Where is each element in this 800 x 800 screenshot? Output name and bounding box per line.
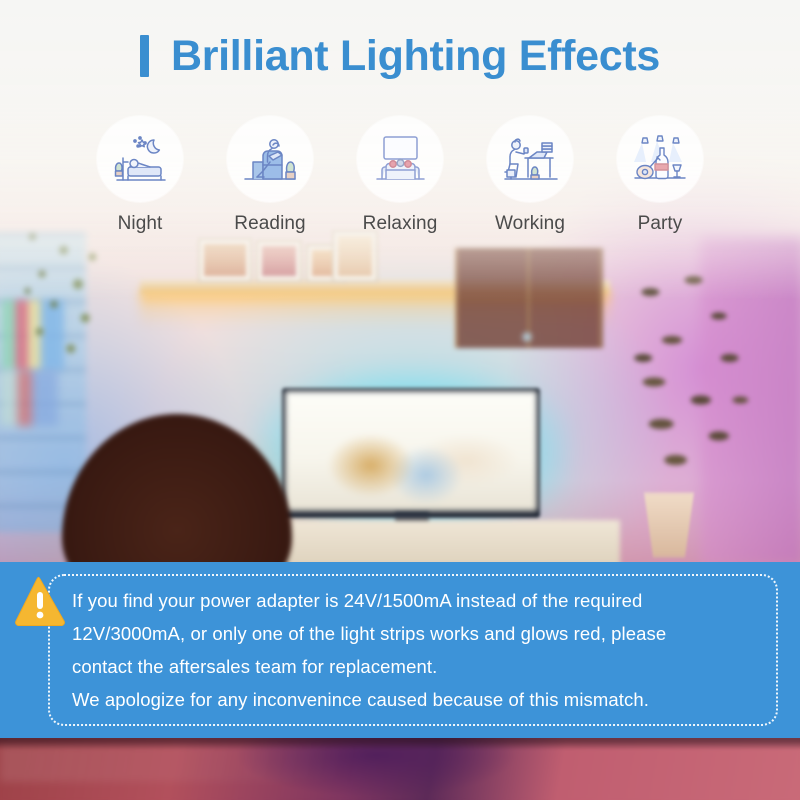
warning-line-1: If you find your power adapter is 24V/15…	[72, 584, 758, 617]
tv-sofa-icon	[369, 132, 431, 186]
shelf-accent-light	[520, 330, 534, 344]
scene-icon-circle	[617, 116, 703, 202]
warning-line-2: 12V/3000mA, or only one of the light str…	[72, 617, 758, 650]
scene-item-relaxing[interactable]: Relaxing	[357, 116, 443, 235]
wine-bottle-guitar-spotlight-icon	[629, 132, 691, 186]
scene-item-party[interactable]: Party	[617, 116, 703, 235]
warning-line-4: We apologize for any inconvenince caused…	[72, 683, 758, 716]
scene-label: Reading	[234, 213, 305, 235]
warning-line-3: contact the aftersales team for replacem…	[72, 650, 758, 683]
tv-screen-content	[285, 391, 537, 511]
bed-moon-stars-icon	[109, 132, 171, 186]
title-row: Brilliant Lighting Effects	[140, 32, 660, 81]
warning-banner: If you find your power adapter is 24V/15…	[0, 562, 800, 738]
person-reading-armchair-icon	[239, 132, 301, 186]
header: Brilliant Lighting Effects	[0, 0, 800, 112]
product-infographic: Brilliant Lighting Effects	[0, 0, 800, 800]
vertical-bar-icon	[140, 35, 149, 77]
scene-icon-circle	[227, 116, 313, 202]
scene-label: Working	[495, 213, 565, 235]
scene-label: Party	[638, 213, 683, 235]
scene-mode-list: Night	[0, 116, 800, 235]
scene-item-night[interactable]: Night	[97, 116, 183, 235]
scene-label: Night	[118, 213, 163, 235]
warning-text: If you find your power adapter is 24V/15…	[72, 584, 758, 716]
warning-triangle-icon	[14, 576, 66, 626]
scene-item-reading[interactable]: Reading	[227, 116, 313, 235]
couch-highlight	[0, 746, 800, 782]
scene-label: Relaxing	[363, 213, 438, 235]
person-desk-laptop-icon	[499, 132, 561, 186]
page-title: Brilliant Lighting Effects	[171, 32, 660, 81]
scene-icon-circle	[357, 116, 443, 202]
scene-icon-circle	[487, 116, 573, 202]
scene-item-working[interactable]: Working	[487, 116, 573, 235]
scene-icon-circle	[97, 116, 183, 202]
